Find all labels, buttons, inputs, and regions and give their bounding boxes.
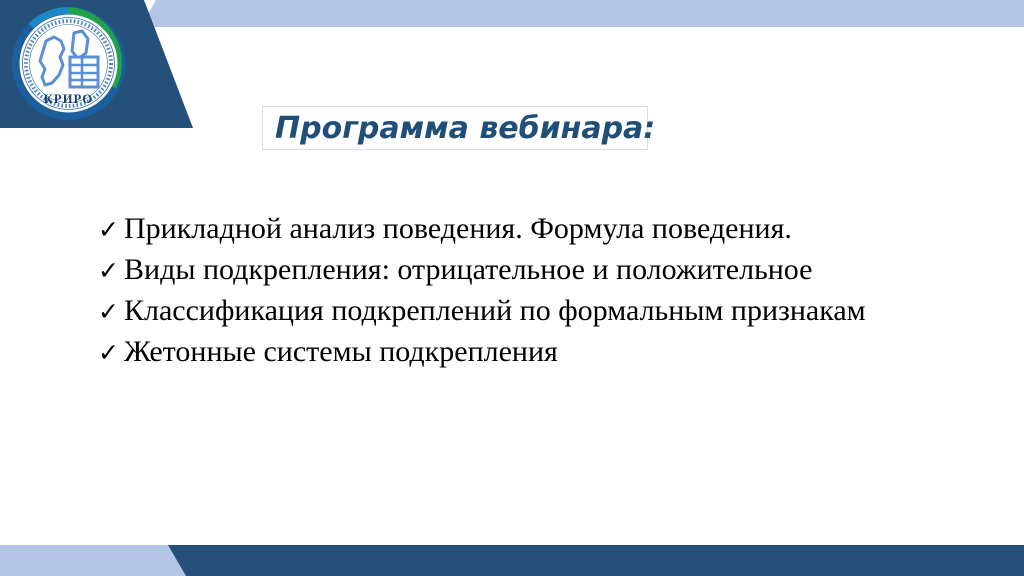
list-item-label: Жетонные системы подкрепления: [124, 337, 558, 367]
slide-canvas: КРИРО Программа вебинара: ✓ Прикладной а…: [0, 0, 1024, 576]
checkmark-icon: ✓: [98, 217, 124, 242]
checkmark-icon: ✓: [98, 340, 124, 365]
page-title: Программа вебинара:: [275, 111, 655, 146]
checkmark-icon: ✓: [98, 258, 124, 283]
agenda-list: ✓ Прикладной анализ поведения. Формула п…: [98, 214, 998, 378]
list-item-label: Прикладной анализ поведения. Формула пов…: [124, 214, 792, 244]
list-item-label: Виды подкрепления: отрицательное и полож…: [124, 255, 813, 285]
list-item: ✓ Жетонные системы подкрепления: [98, 337, 998, 378]
list-item: ✓ Виды подкрепления: отрицательное и пол…: [98, 255, 998, 296]
slide-title-box: Программа вебинара:: [262, 106, 648, 150]
list-item: ✓ Классификация подкреплений по формальн…: [98, 296, 998, 337]
logo-acronym-text: КРИРО: [44, 92, 94, 106]
organization-logo: КРИРО: [12, 7, 125, 120]
checkmark-icon: ✓: [98, 299, 124, 324]
list-item-label: Классификация подкреплений по формальным…: [124, 296, 866, 326]
list-item: ✓ Прикладной анализ поведения. Формула п…: [98, 214, 998, 255]
